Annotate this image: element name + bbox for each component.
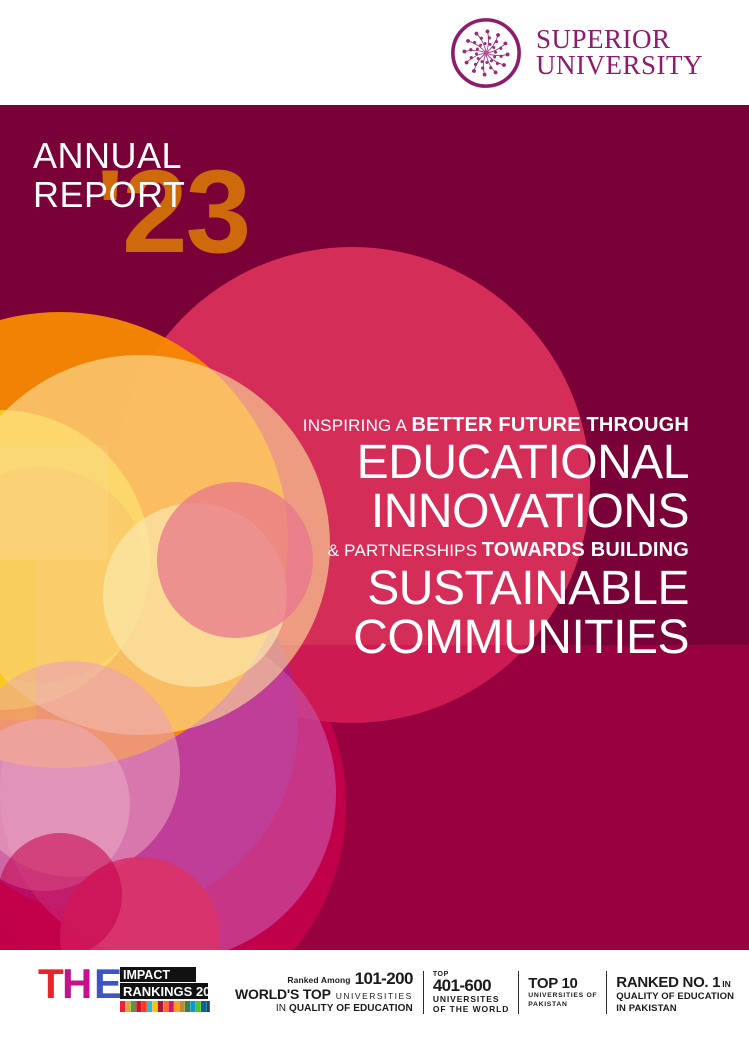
ranking-worlds-top-row1: Ranked Among 101-200 <box>235 971 413 986</box>
ranking-no-1-row1: RANKED NO. 1 IN <box>616 974 734 991</box>
in-label: IN <box>276 1003 286 1014</box>
rankings-group: Ranked Among 101-200 WORLD'S TOP UNIVERS… <box>226 971 743 1014</box>
ranking-no-1-sub1: QUALITY OF EDUCATION <box>616 991 734 1003</box>
brand-line-2: UNIVERSITY <box>536 53 703 79</box>
headline-line-6: COMMUNITIES <box>169 614 689 662</box>
universities-label: UNIVERSITIES <box>336 991 413 1001</box>
ranking-top-world-sub2: OF THE WORLD <box>433 1004 509 1014</box>
ranking-top-pakistan: TOP 10 UNIVERSITIES OF PAKISTAN <box>518 971 606 1014</box>
ranking-worlds-top-row3: IN QUALITY OF EDUCATION <box>235 1003 413 1014</box>
brand-wordmark: SUPERIOR UNIVERSITY <box>536 27 703 79</box>
svg-text:H: H <box>62 962 92 1007</box>
annual-report-title-block: '23 ANNUAL REPORT <box>33 137 185 214</box>
ranking-worlds-top-row2: WORLD'S TOP UNIVERSITIES <box>235 986 413 1002</box>
cover-headline: INSPIRING A BETTER FUTURE THROUGH EDUCAT… <box>169 415 689 662</box>
quality-of-education-label: QUALITY OF EDUCATION <box>289 1003 413 1014</box>
headline-line4-small: & PARTNERSHIPS <box>328 541 478 560</box>
headline-line-2: EDUCATIONAL <box>169 439 689 487</box>
ranking-top-pakistan-number: TOP 10 <box>528 976 597 992</box>
footer-content: T H E IMPACT RANKINGS 2023 <box>38 958 743 1020</box>
the-impact-rankings-logo: T H E IMPACT RANKINGS 2023 <box>38 962 210 1020</box>
worlds-top-label: WORLD'S TOP <box>235 986 331 1002</box>
ranking-top-pakistan-sub1: UNIVERSITIES OF <box>528 992 597 1001</box>
svg-text:T: T <box>38 962 64 1007</box>
ranking-top-world: TOP 401-600 UNIVERSITES OF THE WORLD <box>423 971 518 1014</box>
report-label: ANNUAL REPORT <box>33 135 185 214</box>
ranking-top-world-number: 401-600 <box>433 978 509 994</box>
headline-line1-small: INSPIRING A <box>303 416 407 435</box>
superior-university-radial-mark-icon <box>450 17 522 89</box>
page-footer: T H E IMPACT RANKINGS 2023 <box>0 950 749 1063</box>
page-header: SUPERIOR UNIVERSITY <box>0 0 749 105</box>
ranked-among-label: Ranked Among <box>287 975 350 986</box>
ranking-no-1-sub2: IN PAKISTAN <box>616 1003 734 1015</box>
ranking-top-world-sub1: UNIVERSITES <box>433 994 509 1004</box>
ranking-no-1-number: RANKED NO. 1 <box>616 974 720 991</box>
report-label-line-1: ANNUAL <box>33 135 182 176</box>
brand-lockup: SUPERIOR UNIVERSITY <box>450 17 703 89</box>
headline-line4-bold: TOWARDS BUILDING <box>482 539 689 561</box>
ranking-top-pakistan-sub2: PAKISTAN <box>528 1001 597 1010</box>
ranking-no-1-in-label: IN <box>722 979 731 989</box>
ranking-no-1: RANKED NO. 1 IN QUALITY OF EDUCATION IN … <box>606 971 743 1014</box>
cover-canvas: '23 ANNUAL REPORT INSPIRING A BETTER FUT… <box>0 105 749 950</box>
ranking-worlds-top: Ranked Among 101-200 WORLD'S TOP UNIVERS… <box>226 971 423 1014</box>
annual-report-cover-page: SUPERIOR UNIVERSITY <box>0 0 749 1063</box>
headline-row-4: & PARTNERSHIPS TOWARDS BUILDING <box>169 540 689 560</box>
svg-text:IMPACT: IMPACT <box>123 968 170 982</box>
svg-text:E: E <box>94 962 122 1007</box>
ranking-worlds-top-number: 101-200 <box>355 971 413 986</box>
headline-line1-bold: BETTER FUTURE THROUGH <box>411 414 689 436</box>
report-label-line-2: REPORT <box>33 176 185 215</box>
headline-line-5: SUSTAINABLE <box>169 565 689 613</box>
svg-text:RANKINGS 2023: RANKINGS 2023 <box>123 984 210 999</box>
headline-line-3: INNOVATIONS <box>169 488 689 536</box>
headline-row-1: INSPIRING A BETTER FUTURE THROUGH <box>169 415 689 435</box>
